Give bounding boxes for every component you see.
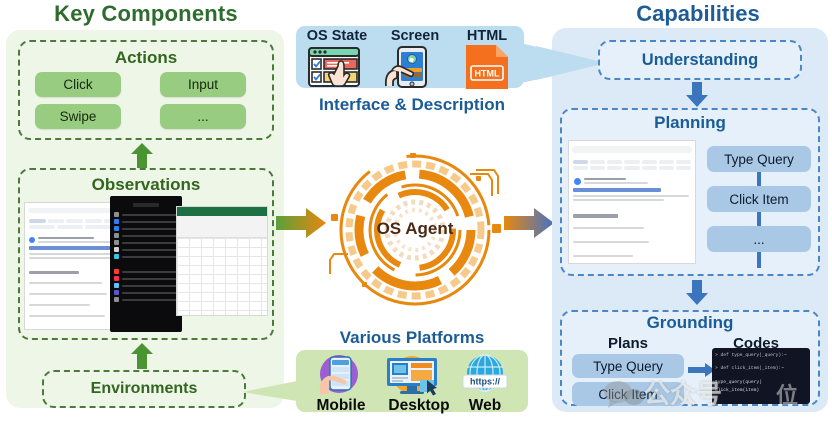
desktop-label: Desktop	[376, 395, 462, 417]
observations-title: Observations	[18, 172, 274, 198]
os-state-label: OS State	[298, 26, 376, 46]
capabilities-title: Capabilities	[608, 0, 788, 28]
os-agent-label: OS Agent	[326, 210, 504, 248]
desktop-monitor-icon	[380, 354, 444, 396]
plan-step-click-item[interactable]: Click Item	[707, 186, 811, 212]
action-chip-swipe[interactable]: Swipe	[35, 104, 121, 129]
arrow-up-environments-to-observations	[128, 342, 156, 370]
arrow-planning-to-grounding	[684, 280, 710, 306]
code-snippet-block: > def type_query(_query):~ > def click_i…	[712, 348, 810, 404]
screenshot-excel	[176, 206, 268, 316]
planning-title: Planning	[560, 110, 820, 136]
platforms-title: Various Platforms	[296, 326, 528, 350]
mobile-phone-icon	[310, 354, 368, 396]
screen-icon	[382, 46, 440, 88]
grounding-plans-header: Plans	[572, 332, 684, 354]
svg-text:HTML: HTML	[475, 69, 500, 79]
web-label: Web	[456, 395, 514, 417]
code-line-3: type_query(query)	[715, 379, 807, 387]
grounding-plan-type-query[interactable]: Type Query	[572, 354, 684, 378]
html-file-icon: HTML	[452, 44, 514, 90]
understanding-title: Understanding	[598, 40, 802, 80]
https-badge: https://	[470, 377, 500, 387]
globe-icon: https://	[456, 354, 514, 396]
screen-label: Screen	[380, 26, 450, 46]
action-chip-input[interactable]: Input	[160, 72, 246, 97]
arrow-understanding-to-planning	[684, 82, 710, 108]
planning-flow-spine	[755, 168, 763, 268]
interface-caption: Interface & Description	[288, 93, 536, 117]
environments-title: Environments	[42, 370, 246, 408]
code-line-1: > def type_query(_query):~	[715, 352, 807, 360]
code-line-2: > def click_item(_item):~	[715, 365, 807, 373]
plan-step-type-query[interactable]: Type Query	[707, 146, 811, 172]
screenshot-ios-settings	[110, 196, 182, 332]
action-chip-more[interactable]: ...	[160, 104, 246, 129]
mobile-label: Mobile	[304, 395, 378, 417]
action-chip-click[interactable]: Click	[35, 72, 121, 97]
arrow-components-to-agent	[276, 206, 328, 240]
observation-screenshots	[24, 196, 268, 334]
key-components-title: Key Components	[46, 0, 246, 28]
plan-step-more[interactable]: ...	[707, 226, 811, 252]
arrow-up-observations-to-actions	[128, 142, 156, 170]
screenshot-planning-search	[568, 140, 696, 264]
diagram-canvas: Key Components Actions Click Input Swipe…	[0, 0, 832, 428]
arrow-agent-to-capabilities	[504, 206, 556, 240]
code-line-4: click_item(item)	[715, 387, 807, 395]
os-state-icon	[305, 46, 367, 88]
html-label: HTML	[452, 26, 522, 46]
grounding-plan-click-item[interactable]: Click Item	[572, 382, 684, 406]
actions-title: Actions	[18, 45, 274, 71]
